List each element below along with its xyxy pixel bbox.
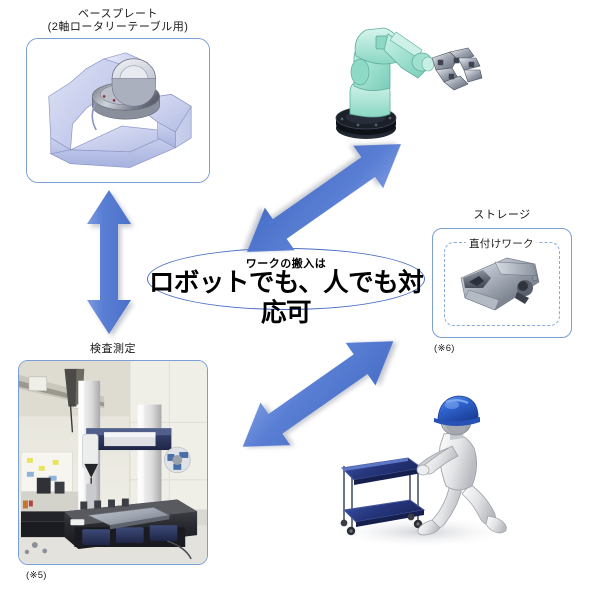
inspection-caption-line1: 検査測定 bbox=[18, 343, 208, 356]
baseplate-caption-line1: ベースプレート bbox=[26, 8, 210, 21]
baseplate-card[interactable] bbox=[26, 38, 210, 183]
arrow-baseplate-inspection bbox=[78, 188, 140, 336]
inspection-caption: 検査測定 bbox=[18, 343, 208, 356]
storage-workpiece-image bbox=[455, 252, 551, 320]
robot-arm-image bbox=[318, 14, 502, 144]
cmm-machine-photo bbox=[19, 361, 207, 564]
baseplate-cad-image bbox=[27, 39, 209, 182]
storage-footnote: (※6) bbox=[434, 343, 455, 354]
baseplate-caption-line2: (2軸ロータリーテーブル用) bbox=[26, 21, 210, 34]
storage-caption-line1: ストレージ bbox=[432, 209, 572, 222]
storage-inner-label: 直付けワーク bbox=[466, 236, 537, 251]
center-callout-maintext: ロボットでも、人でも対応可 bbox=[147, 268, 425, 328]
arrow-center-worker bbox=[222, 338, 414, 450]
inspection-card[interactable] bbox=[18, 360, 208, 565]
diagram-canvas: ベースプレート (2軸ロータリーテーブル用) bbox=[0, 0, 600, 600]
storage-caption: ストレージ bbox=[432, 209, 572, 222]
arrow-center-robot bbox=[224, 140, 424, 256]
inspection-footnote: (※5) bbox=[26, 570, 47, 581]
baseplate-caption: ベースプレート (2軸ロータリーテーブル用) bbox=[26, 8, 210, 34]
